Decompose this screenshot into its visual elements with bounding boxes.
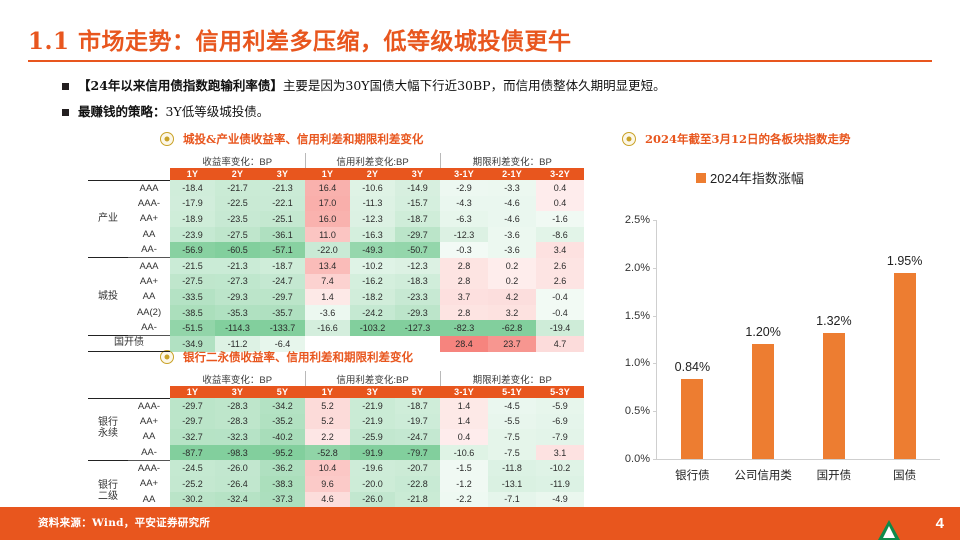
- x-axis-tick-label: 国债: [893, 467, 916, 483]
- table-rating-label: AAA: [128, 258, 170, 274]
- chart-bar: [752, 344, 774, 459]
- table-cell: 5.2: [305, 414, 350, 430]
- table-column-header: 2-1Y: [488, 168, 536, 180]
- table-cell: -18.4: [170, 180, 215, 196]
- table-cell: -15.7: [395, 196, 440, 212]
- table-cell: -23.3: [395, 289, 440, 305]
- table-cell: 3.1: [536, 445, 584, 461]
- table-rating-label: AA: [128, 289, 170, 305]
- table-cell: -36.1: [260, 227, 305, 243]
- table-cell: -25.9: [350, 429, 395, 445]
- footer-band: 资料来源：Wind，平安证券研究所 4: [0, 507, 960, 540]
- table-cell: -0.4: [536, 305, 584, 321]
- chart-bar: [681, 379, 703, 459]
- table-column-header: 3Y: [350, 386, 395, 398]
- bullet-rest: 3Y低等级城投债。: [166, 104, 270, 119]
- table-cell: -11.9: [536, 476, 584, 492]
- table-cell: -2.2: [440, 492, 488, 508]
- table-cell: 10.4: [305, 460, 350, 476]
- table-cell: -16.6: [305, 320, 350, 336]
- table-cell: -21.7: [215, 180, 260, 196]
- table-cell: -10.2: [350, 258, 395, 274]
- table-cell: -1.5: [440, 460, 488, 476]
- table-cell: -6.3: [440, 211, 488, 227]
- table-cell: -22.0: [305, 242, 350, 258]
- table-cell: -25.1: [260, 211, 305, 227]
- table-column-header-row: 1Y2Y3Y1Y2Y3Y3-1Y2-1Y3-2Y: [88, 168, 584, 180]
- table-row: AA+-25.2-26.4-38.39.6-20.0-22.8-1.2-13.1…: [88, 476, 584, 492]
- title-divider: [28, 60, 932, 62]
- table-column-header: 5Y: [395, 386, 440, 398]
- table-cell: -5.5: [488, 414, 536, 430]
- table-column-header: 1Y: [170, 386, 215, 398]
- table-cell: -60.5: [215, 242, 260, 258]
- table-footer-row: 国开债-34.9-11.2-6.428.423.74.7: [88, 336, 584, 352]
- table-cell: -82.3: [440, 320, 488, 336]
- table-group-header-row: 收益率变化：BP信用利差变化:BP期限利差变化：BP: [88, 371, 584, 386]
- table-cell: 4.6: [305, 492, 350, 508]
- table-row: AA+-29.7-28.3-35.25.2-21.9-19.71.4-5.5-6…: [88, 414, 584, 430]
- table-cell: 2.6: [536, 274, 584, 290]
- table-cell: -18.9: [170, 211, 215, 227]
- table-cell: -6.9: [536, 414, 584, 430]
- table-cell: -21.3: [260, 180, 305, 196]
- table-cell: -14.9: [395, 180, 440, 196]
- y-axis-tick-label: 1.5%: [625, 310, 650, 322]
- table-cell: [305, 336, 350, 352]
- legend-swatch-icon: [696, 173, 706, 183]
- table-rating-label: AA-: [128, 320, 170, 336]
- y-axis-tick-mark: [653, 411, 657, 412]
- table-rating-label: AA+: [128, 414, 170, 430]
- table-cell: -95.2: [260, 445, 305, 461]
- table-column-header-row: 1Y3Y5Y1Y3Y5Y3-1Y5-1Y5-3Y: [88, 386, 584, 398]
- table-cell: -7.5: [488, 445, 536, 461]
- table-cell: 0.4: [536, 180, 584, 196]
- page-number: 4: [936, 515, 944, 532]
- table-row: 银行二级AAA--24.5-26.0-36.210.4-19.6-20.7-1.…: [88, 460, 584, 476]
- table-cell: 23.7: [488, 336, 536, 352]
- table-cell: -8.6: [536, 227, 584, 243]
- table-cell: 9.6: [305, 476, 350, 492]
- bullet-text: 【24年以来信用债指数跑输利率债】主要是因为30Y国债大幅下行近30BP，而信用…: [78, 78, 666, 94]
- table-column-header: 3-1Y: [440, 386, 488, 398]
- table-cell: [350, 336, 395, 352]
- table-row: AA(2)-38.5-35.3-35.7-3.6-24.2-29.32.83.2…: [88, 305, 584, 321]
- table-rating-label: AA(2): [128, 305, 170, 321]
- x-axis-tick-label: 公司信用类: [734, 467, 792, 483]
- table-cell: -0.3: [440, 242, 488, 258]
- square-bullet-icon: [62, 83, 69, 90]
- table-cell: 2.6: [536, 258, 584, 274]
- table-cell: -21.9: [350, 398, 395, 414]
- table-row: AA-33.5-29.3-29.71.4-18.2-23.33.74.2-0.4: [88, 289, 584, 305]
- table-cell: -23.5: [215, 211, 260, 227]
- table-cell: -50.7: [395, 242, 440, 258]
- table-row: AA+-27.5-27.3-24.77.4-16.2-18.32.80.22.6: [88, 274, 584, 290]
- table-rating-label: AAA-: [128, 196, 170, 212]
- chart-bar: [894, 273, 916, 459]
- y-axis-tick-label: 0.5%: [625, 405, 650, 417]
- table-cell: 16.0: [305, 211, 350, 227]
- table-group-header: 信用利差变化:BP: [305, 153, 440, 168]
- table-cell: 16.4: [305, 180, 350, 196]
- table-cell: -4.3: [440, 196, 488, 212]
- table-group-header: 信用利差变化:BP: [305, 371, 440, 386]
- table-cell: -33.5: [170, 289, 215, 305]
- table-cell: -19.4: [536, 320, 584, 336]
- table-cell: -29.7: [395, 227, 440, 243]
- table-cell: -36.2: [260, 460, 305, 476]
- table-column-header: 3-2Y: [536, 168, 584, 180]
- table-cell: -26.0: [215, 460, 260, 476]
- table-column-header: 3-1Y: [440, 168, 488, 180]
- table-column-header: 1Y: [170, 168, 215, 180]
- chart-bar-value-label: 1.32%: [816, 314, 851, 328]
- table-cell: -114.3: [215, 320, 260, 336]
- table-cell: -3.6: [488, 242, 536, 258]
- bullet-text: 最赚钱的策略：3Y低等级城投债。: [78, 104, 269, 120]
- table-cell: 4.7: [536, 336, 584, 352]
- table-cell: -34.9: [170, 336, 215, 352]
- table-column-header: 5Y: [260, 386, 305, 398]
- table-group-label: 产业: [88, 180, 128, 258]
- table-row: 银行永续AAA--29.7-28.3-34.25.2-21.9-18.71.4-…: [88, 398, 584, 414]
- chart-bar: [823, 333, 845, 459]
- table-cell: -19.7: [395, 414, 440, 430]
- table-cell: -0.4: [536, 289, 584, 305]
- table-cell: -32.4: [215, 492, 260, 508]
- table-cell: -27.5: [215, 227, 260, 243]
- legend-label: 2024年指数涨幅: [710, 168, 804, 187]
- bullet-item: 最赚钱的策略：3Y低等级城投债。: [62, 104, 562, 120]
- table-group-header: 收益率变化：BP: [170, 153, 305, 168]
- table-cell: 1.4: [440, 398, 488, 414]
- table-cell: -11.2: [215, 336, 260, 352]
- bullet-strong: 最赚钱的策略：: [78, 104, 166, 119]
- table-cell: -18.7: [395, 398, 440, 414]
- table-cell: -133.7: [260, 320, 305, 336]
- table-cell: -13.1: [488, 476, 536, 492]
- table-cell: -29.7: [260, 289, 305, 305]
- table-cell: -10.6: [350, 180, 395, 196]
- table-rating-label: AAA: [128, 180, 170, 196]
- chart-bar-value-label: 1.20%: [745, 325, 780, 339]
- table-column-header: 3Y: [395, 168, 440, 180]
- bullet-strong: 【24年以来信用债指数跑输利率债】: [78, 78, 283, 93]
- table-group-header-row: 收益率变化：BP信用利差变化:BP期限利差变化：BP: [88, 153, 584, 168]
- table-column-header: 2Y: [350, 168, 395, 180]
- table-row: AA+-18.9-23.5-25.116.0-12.3-18.7-6.3-4.6…: [88, 211, 584, 227]
- table-cell: -38.5: [170, 305, 215, 321]
- y-axis-tick-label: 0.0%: [625, 453, 650, 465]
- table-cell: -103.2: [350, 320, 395, 336]
- table-row: 产业AAA-18.4-21.7-21.316.4-10.6-14.9-2.9-3…: [88, 180, 584, 196]
- table-cell: -28.3: [215, 398, 260, 414]
- table-cell: -22.8: [395, 476, 440, 492]
- table-cell: -18.7: [395, 211, 440, 227]
- table-rating-label: AA: [128, 429, 170, 445]
- table-rating-label: AA+: [128, 476, 170, 492]
- table-cell: -30.2: [170, 492, 215, 508]
- table-cell: -12.3: [395, 258, 440, 274]
- table-cell: -18.2: [350, 289, 395, 305]
- table-rating-label: AA+: [128, 274, 170, 290]
- table-group-label: 银行永续: [88, 398, 128, 460]
- table-cell: 2.8: [440, 258, 488, 274]
- table-cell: -18.3: [395, 274, 440, 290]
- table-cell: -29.3: [215, 289, 260, 305]
- table-cell: -38.3: [260, 476, 305, 492]
- table-cell: -11.3: [350, 196, 395, 212]
- table-cell: -28.3: [215, 414, 260, 430]
- table-cell: -17.9: [170, 196, 215, 212]
- table-row: AA-30.2-32.4-37.34.6-26.0-21.8-2.2-7.1-4…: [88, 492, 584, 508]
- table-rating-label: AA-: [128, 445, 170, 461]
- table-cell: -57.1: [260, 242, 305, 258]
- table-rating-label: AA: [128, 227, 170, 243]
- table-cell: -21.3: [215, 258, 260, 274]
- table-cell: -98.3: [215, 445, 260, 461]
- table-cell: 3.4: [536, 242, 584, 258]
- table-cell: -24.7: [260, 274, 305, 290]
- y-axis-tick-label: 2.0%: [625, 262, 650, 274]
- table-cell: -4.9: [536, 492, 584, 508]
- table-cell: -29.7: [170, 414, 215, 430]
- table-cell: 0.2: [488, 274, 536, 290]
- table-cell: 11.0: [305, 227, 350, 243]
- table-row: 城投AAA-21.5-21.3-18.713.4-10.2-12.32.80.2…: [88, 258, 584, 274]
- table-cell: -6.4: [260, 336, 305, 352]
- chart-legend: 2024年指数涨幅: [696, 168, 804, 187]
- table-cell: -24.5: [170, 460, 215, 476]
- bullet-item: 【24年以来信用债指数跑输利率债】主要是因为30Y国债大幅下行近30BP，而信用…: [62, 78, 762, 94]
- table-cell: 2.8: [440, 305, 488, 321]
- y-axis-tick-mark: [653, 363, 657, 364]
- table-cell: -22.1: [260, 196, 305, 212]
- table-cell: 0.2: [488, 258, 536, 274]
- table-cell: 1.4: [440, 414, 488, 430]
- table-cell: -49.3: [350, 242, 395, 258]
- ring-bullet-icon: [160, 350, 174, 364]
- table-cell: -24.7: [395, 429, 440, 445]
- table-cell: -12.3: [440, 227, 488, 243]
- chart-bar-value-label: 0.84%: [675, 360, 710, 374]
- table-cell: 4.2: [488, 289, 536, 305]
- table-cell: -35.3: [215, 305, 260, 321]
- table-cell: 7.4: [305, 274, 350, 290]
- table-column-header: 5-1Y: [488, 386, 536, 398]
- table-column-header: 5-3Y: [536, 386, 584, 398]
- table-cell: -19.6: [350, 460, 395, 476]
- y-axis-tick-mark: [653, 459, 657, 460]
- table-cell: -29.7: [170, 398, 215, 414]
- table-cell: 13.4: [305, 258, 350, 274]
- bar-chart: 2024年指数涨幅 0.0%0.5%1.0%1.5%2.0%2.5%0.84%银…: [600, 150, 952, 510]
- table-cell: -79.7: [395, 445, 440, 461]
- y-axis-tick-mark: [653, 316, 657, 317]
- table-cell: -4.5: [488, 398, 536, 414]
- table-cell: -35.7: [260, 305, 305, 321]
- table-group-header: 期限利差变化：BP: [440, 371, 584, 386]
- table-cell: -27.3: [215, 274, 260, 290]
- table-cell: 2.2: [305, 429, 350, 445]
- table-footer-label: 国开债: [88, 336, 170, 352]
- table-cell: 0.4: [536, 196, 584, 212]
- table-cell: 28.4: [440, 336, 488, 352]
- table1-title: 城投&产业债收益率、信用利差和期限利差变化: [160, 131, 423, 147]
- table-cell: -34.2: [260, 398, 305, 414]
- table-cell: -21.5: [170, 258, 215, 274]
- company-logo-icon: [876, 518, 902, 544]
- table-cell: 3.7: [440, 289, 488, 305]
- table-cell: 5.2: [305, 398, 350, 414]
- table-cell: -20.0: [350, 476, 395, 492]
- table-cell: 1.4: [305, 289, 350, 305]
- table-row: AA-23.9-27.5-36.111.0-16.3-29.7-12.3-3.6…: [88, 227, 584, 243]
- table-cell: -52.8: [305, 445, 350, 461]
- chart-bar-value-label: 1.95%: [887, 254, 922, 268]
- table-cell: -4.6: [488, 196, 536, 212]
- table-cell: -37.3: [260, 492, 305, 508]
- table-cell: -21.9: [350, 414, 395, 430]
- x-axis-tick-label: 国开债: [817, 467, 852, 483]
- table-rating-label: AA-: [128, 242, 170, 258]
- table-cell: -25.2: [170, 476, 215, 492]
- source-note: 资料来源：Wind，平安证券研究所: [38, 515, 210, 530]
- table-cell: -23.9: [170, 227, 215, 243]
- table-cell: -21.8: [395, 492, 440, 508]
- y-axis-tick-label: 1.0%: [625, 357, 650, 369]
- table-cell: -32.7: [170, 429, 215, 445]
- table-rating-label: AAA-: [128, 398, 170, 414]
- table-cell: -56.9: [170, 242, 215, 258]
- table-cell: -51.5: [170, 320, 215, 336]
- table-rating-label: AA+: [128, 211, 170, 227]
- table-cell: -87.7: [170, 445, 215, 461]
- page-title: 1.1 市场走势：信用利差多压缩，低等级城投债更牛: [28, 22, 572, 56]
- table-bond-yield-urban-industrial: 收益率变化：BP信用利差变化:BP期限利差变化：BP1Y2Y3Y1Y2Y3Y3-…: [88, 153, 584, 352]
- table-cell: -26.0: [350, 492, 395, 508]
- table-cell: -26.4: [215, 476, 260, 492]
- ring-bullet-icon: [160, 132, 174, 146]
- table-cell: -127.3: [395, 320, 440, 336]
- table-cell: -40.2: [260, 429, 305, 445]
- chart-plot-area: 0.0%0.5%1.0%1.5%2.0%2.5%0.84%银行债1.20%公司信…: [656, 220, 940, 460]
- x-axis-tick-label: 银行债: [675, 467, 710, 483]
- table-cell: -20.7: [395, 460, 440, 476]
- table-row: AA--51.5-114.3-133.7-16.6-103.2-127.3-82…: [88, 320, 584, 336]
- table-cell: -10.6: [440, 445, 488, 461]
- table-column-header: 2Y: [215, 168, 260, 180]
- table-cell: -10.2: [536, 460, 584, 476]
- table-cell: 3.2: [488, 305, 536, 321]
- table-cell: -35.2: [260, 414, 305, 430]
- table-column-header: 1Y: [305, 168, 350, 180]
- table-group-header: 期限利差变化：BP: [440, 153, 584, 168]
- table-cell: -2.9: [440, 180, 488, 196]
- table-cell: -1.2: [440, 476, 488, 492]
- table-row: AAA--17.9-22.5-22.117.0-11.3-15.7-4.3-4.…: [88, 196, 584, 212]
- table-cell: -11.8: [488, 460, 536, 476]
- table-column-header: 3Y: [260, 168, 305, 180]
- table-cell: -27.5: [170, 274, 215, 290]
- chart-title: 2024年截至3月12日的各板块指数走势: [622, 131, 851, 147]
- table-cell: 0.4: [440, 429, 488, 445]
- table-cell: -62.8: [488, 320, 536, 336]
- table-group-header: 收益率变化：BP: [170, 371, 305, 386]
- table-cell: -7.1: [488, 492, 536, 508]
- table-cell: -16.2: [350, 274, 395, 290]
- table-cell: -32.3: [215, 429, 260, 445]
- table-row: AA-32.7-32.3-40.22.2-25.9-24.70.4-7.5-7.…: [88, 429, 584, 445]
- bullet-rest: 主要是因为30Y国债大幅下行近30BP，而信用债整体久期明显更短。: [283, 78, 666, 93]
- table-column-header: 3Y: [215, 386, 260, 398]
- square-bullet-icon: [62, 109, 69, 116]
- table-cell: -7.5: [488, 429, 536, 445]
- table-cell: -16.3: [350, 227, 395, 243]
- table-cell: -91.9: [350, 445, 395, 461]
- table-cell: -29.3: [395, 305, 440, 321]
- table-cell: 17.0: [305, 196, 350, 212]
- table-cell: -18.7: [260, 258, 305, 274]
- y-axis-tick-label: 2.5%: [625, 214, 650, 226]
- y-axis-tick-mark: [653, 268, 657, 269]
- table1-title-text: 城投&产业债收益率、信用利差和期限利差变化: [183, 131, 423, 147]
- table-rating-label: AA: [128, 492, 170, 508]
- table-cell: -5.9: [536, 398, 584, 414]
- table-cell: -22.5: [215, 196, 260, 212]
- table-row: AA--56.9-60.5-57.1-22.0-49.3-50.7-0.3-3.…: [88, 242, 584, 258]
- table-rating-label: AAA-: [128, 460, 170, 476]
- table-cell: -3.6: [488, 227, 536, 243]
- table-row: AA--87.7-98.3-95.2-52.8-91.9-79.7-10.6-7…: [88, 445, 584, 461]
- table-cell: -3.6: [305, 305, 350, 321]
- table-cell: 2.8: [440, 274, 488, 290]
- chart-title-text: 2024年截至3月12日的各板块指数走势: [645, 131, 851, 147]
- table-cell: -24.2: [350, 305, 395, 321]
- ring-bullet-icon: [622, 132, 636, 146]
- table-cell: -3.3: [488, 180, 536, 196]
- table-cell: -12.3: [350, 211, 395, 227]
- table-cell: -1.6: [536, 211, 584, 227]
- table-cell: -4.6: [488, 211, 536, 227]
- table-group-label: 城投: [88, 258, 128, 336]
- table-cell: [395, 336, 440, 352]
- table-cell: -7.9: [536, 429, 584, 445]
- table-column-header: 1Y: [305, 386, 350, 398]
- y-axis-tick-mark: [653, 220, 657, 221]
